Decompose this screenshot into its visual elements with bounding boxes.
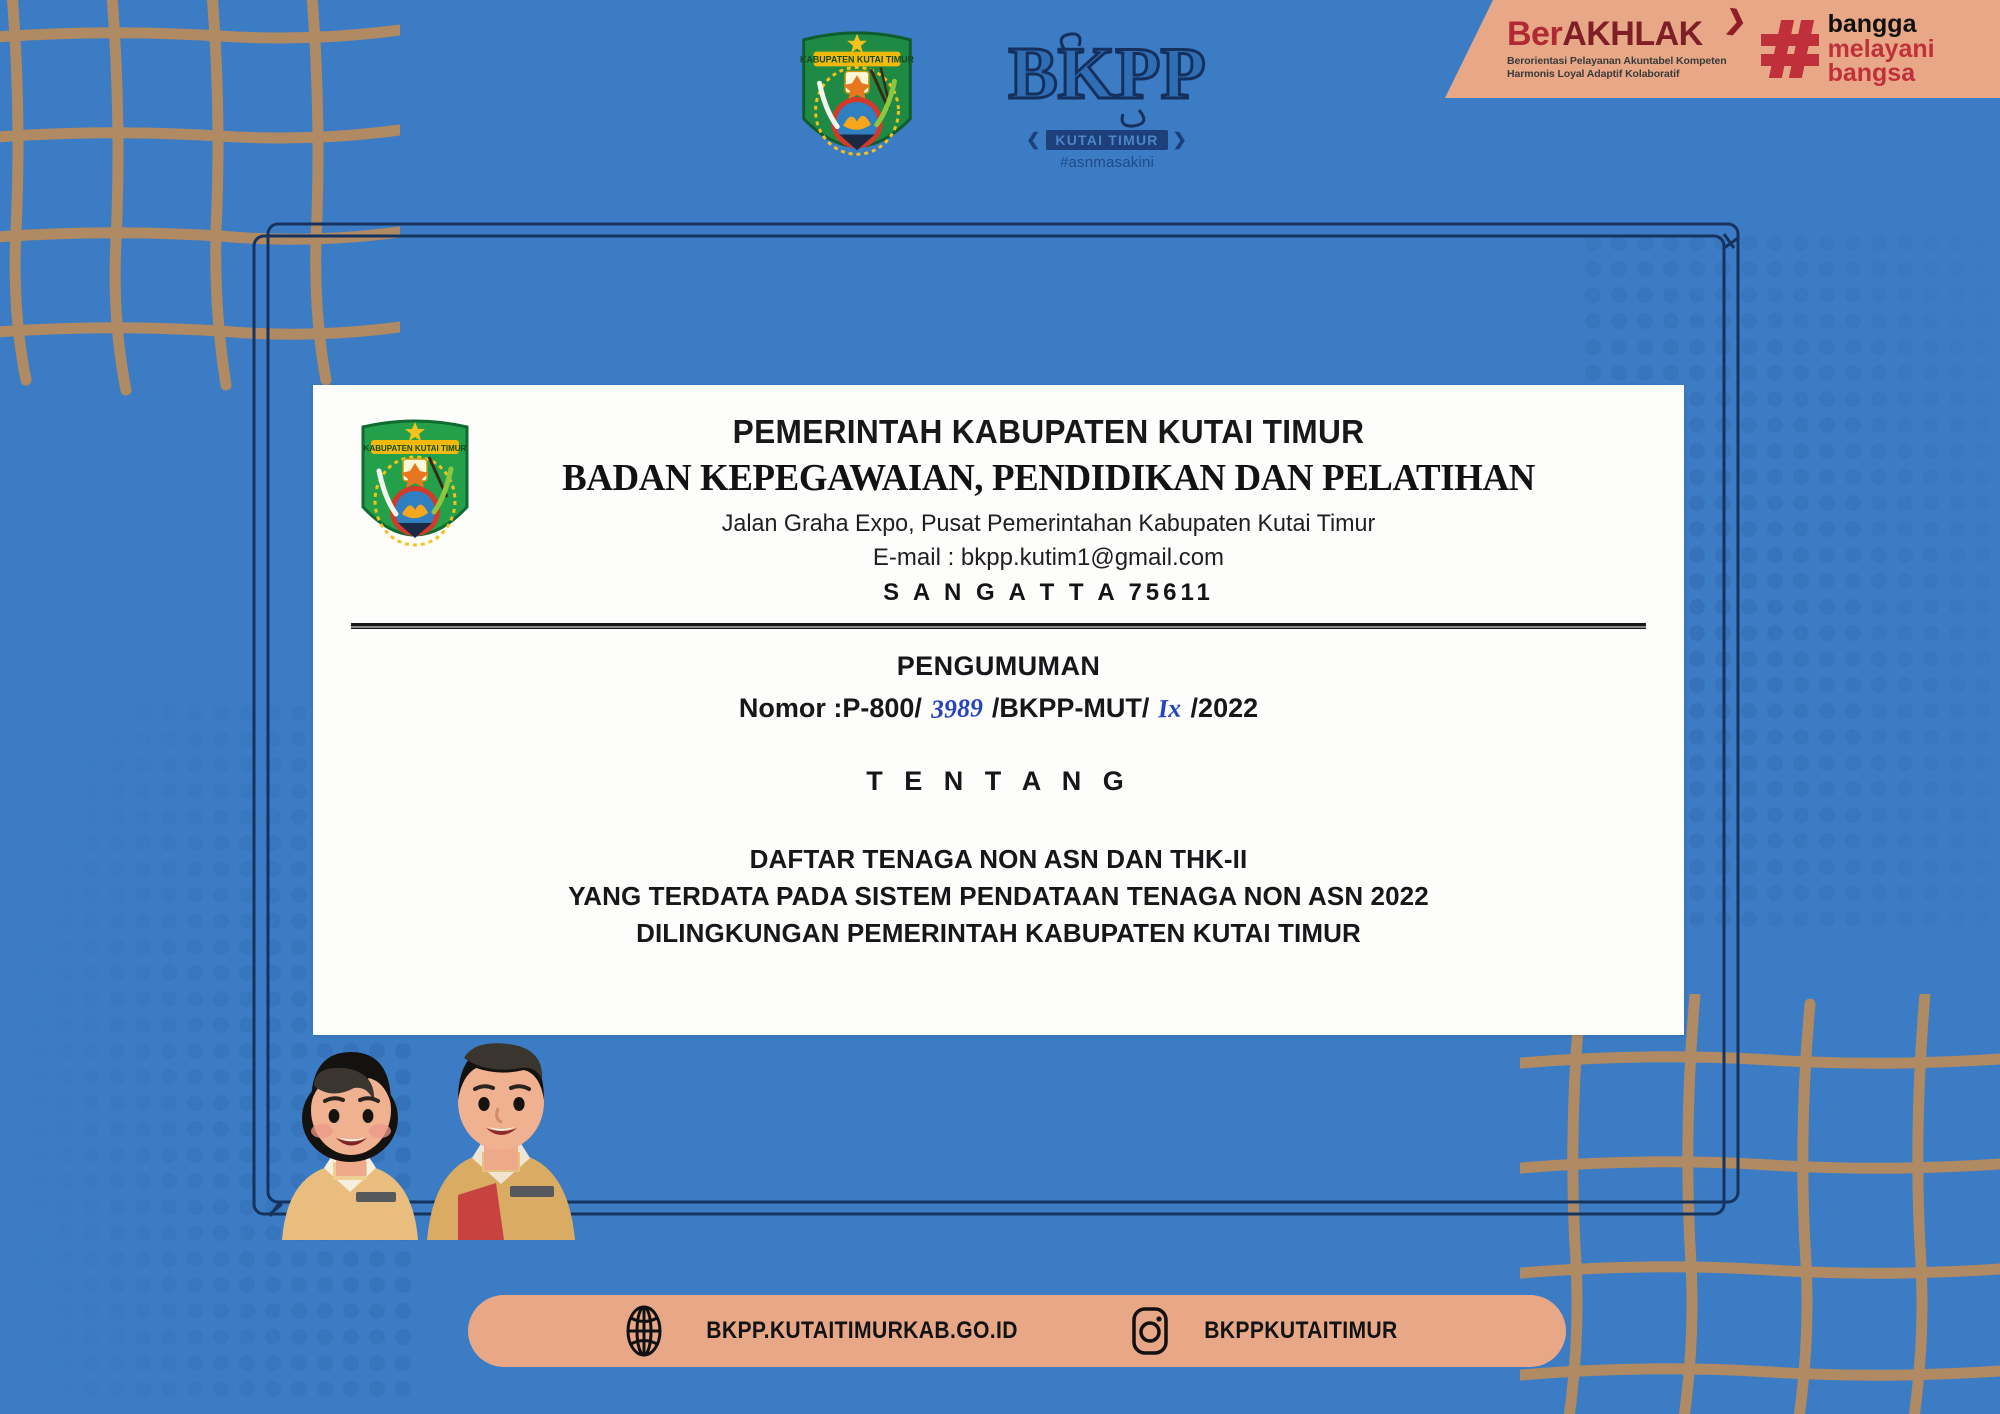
- website-label: BKPP.KUTAITIMURKAB.GO.ID: [706, 1317, 1018, 1345]
- doc-email-line: E-mail : bkpp.kutim1@gmail.com: [435, 544, 1662, 572]
- doc-address-line: Jalan Graha Expo, Pusat Pemerintahan Kab…: [453, 510, 1643, 538]
- globe-icon: [623, 1305, 665, 1357]
- bkpp-wordmark-text: BKPP: [1008, 33, 1205, 115]
- doc-city-line: S A N G A T T A 75611: [435, 579, 1662, 607]
- asn-staff-illustration: [272, 940, 582, 1240]
- grid-decoration-bottom-right: [1520, 994, 2000, 1414]
- svg-text:KABUPATEN KUTAI TIMUR: KABUPATEN KUTAI TIMUR: [800, 54, 914, 64]
- roman-handwritten: Ix: [1149, 693, 1191, 724]
- bkpp-region-banner: ❮ KUTAI TIMUR ❯: [1026, 130, 1188, 150]
- header-logos: KABUPATEN KUTAI TIMUR BKPP ❮ KUTAI TIMUR: [0, 24, 2000, 172]
- poster-canvas: BerAKHLAK ❯ Berorientasi Pelayanan Akunt…: [0, 0, 2000, 1414]
- chevron-right-icon: ❯: [1173, 130, 1188, 150]
- instagram-icon: [1129, 1305, 1171, 1357]
- chevron-left-icon: ❮: [1026, 130, 1041, 150]
- footer-contact-bar: BKPP.KUTAITIMURKAB.GO.ID BKPPKUTAITIMUR: [468, 1295, 1566, 1367]
- doc-agency-line: BADAN KEPEGAWAIAN, PENDIDIKAN DAN PELATI…: [453, 456, 1643, 500]
- kutai-timur-crest-icon: KABUPATEN KUTAI TIMUR: [793, 24, 921, 172]
- announcement-number-row: Nomor :P-800/ 3989 /BKPP-MUT/ Ix /2022: [313, 693, 1684, 724]
- subject-line-1: DAFTAR TENAGA NON ASN DAN THK-II: [313, 841, 1684, 878]
- bkpp-wordmark-icon: BKPP: [1007, 24, 1207, 128]
- bkpp-region-label: KUTAI TIMUR: [1046, 130, 1167, 150]
- number-suffix: /2022: [1191, 693, 1259, 724]
- announcement-document: KABUPATEN KUTAI TIMUR PEMERINTAH KABUPAT…: [313, 385, 1684, 1035]
- number-handwritten: 3989: [921, 693, 992, 725]
- number-prefix: Nomor :P-800/: [739, 693, 922, 724]
- subject-line-2: YANG TERDATA PADA SISTEM PENDATAAN TENAG…: [313, 878, 1684, 915]
- announcement-subject: DAFTAR TENAGA NON ASN DAN THK-II YANG TE…: [313, 841, 1684, 952]
- bkpp-tagline: #asnmasakini: [1060, 154, 1154, 171]
- instagram-contact[interactable]: BKPPKUTAITIMUR: [1129, 1305, 1411, 1357]
- number-middle: /BKPP-MUT/: [992, 693, 1150, 724]
- announcement-label: PENGUMUMAN: [313, 651, 1684, 682]
- website-contact[interactable]: BKPP.KUTAITIMURKAB.GO.ID: [623, 1305, 1039, 1357]
- bkpp-logo: BKPP ❮ KUTAI TIMUR ❯ #asnmasakini: [1007, 24, 1207, 171]
- doc-government-line: PEMERINTAH KABUPATEN KUTAI TIMUR: [460, 413, 1638, 451]
- instagram-label: BKPPKUTAITIMUR: [1204, 1317, 1397, 1345]
- tentang-label: T E N T A N G: [313, 766, 1684, 797]
